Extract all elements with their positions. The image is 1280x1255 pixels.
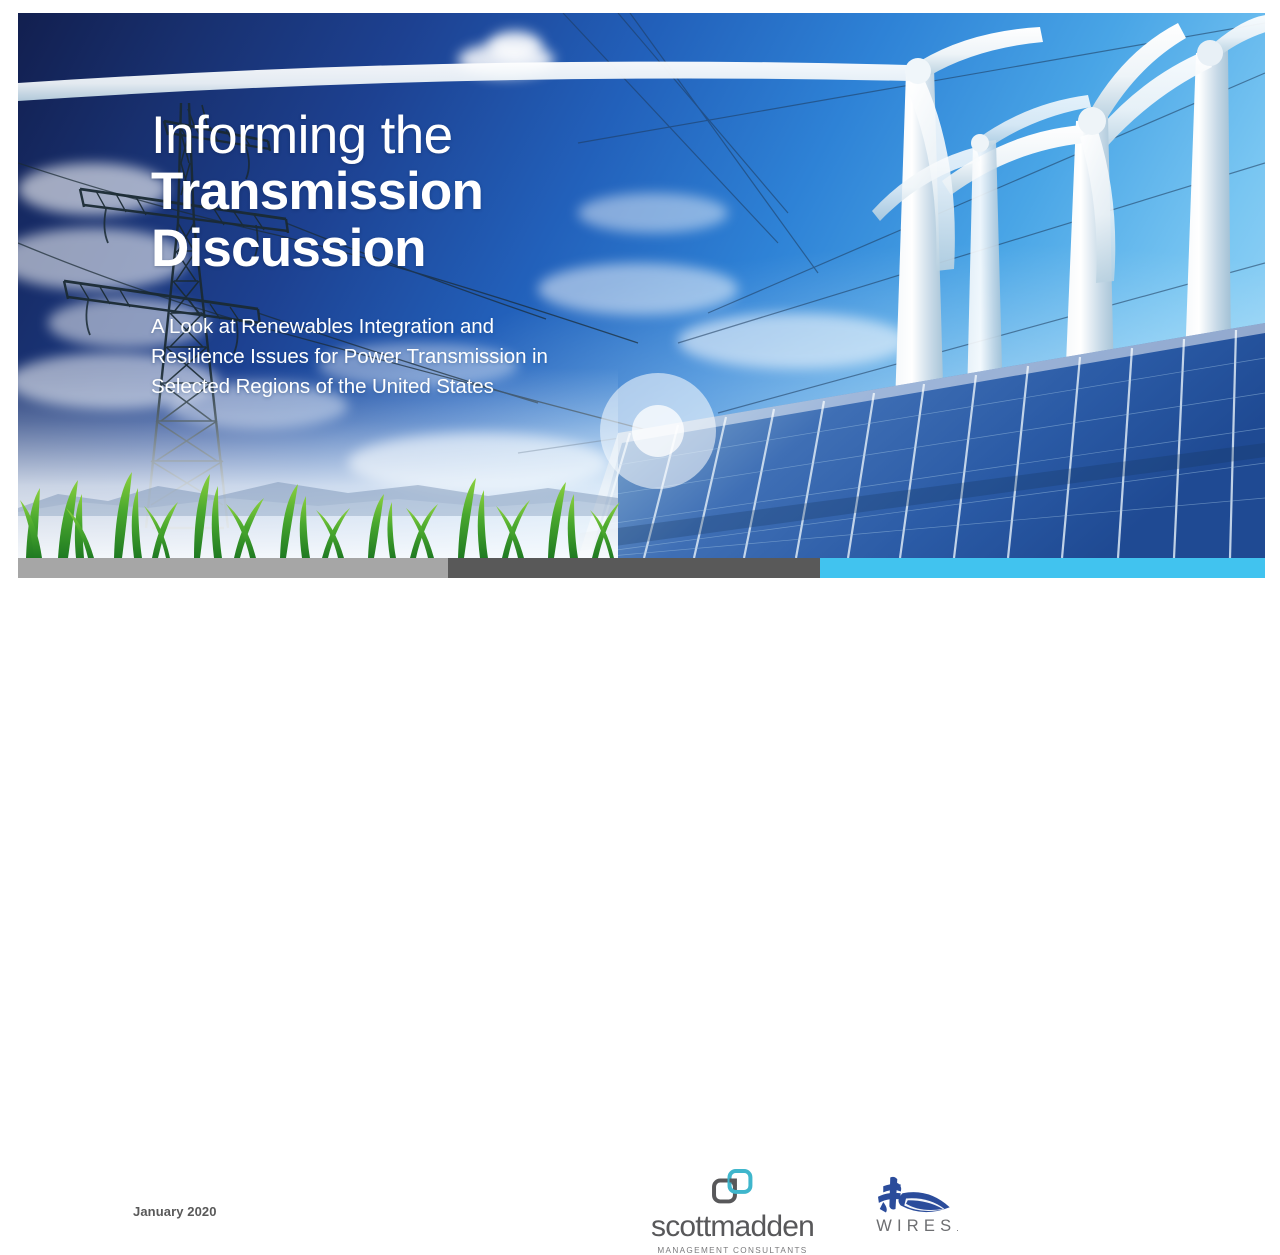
color-bar-segment-cyan	[820, 558, 1265, 578]
date-label: January 2020	[133, 1204, 217, 1219]
title-line-3: Discussion	[151, 220, 551, 277]
wires-registered-mark: .	[956, 1223, 959, 1233]
wires-wordmark-text: WIRES	[876, 1217, 956, 1235]
accent-color-bar	[18, 558, 1265, 578]
hero-image: Informing the Transmission Discussion A …	[18, 13, 1265, 558]
color-bar-segment-light-gray	[18, 558, 448, 578]
title-line-2: Transmission	[151, 163, 551, 220]
color-bar-segment-dark-gray	[448, 558, 820, 578]
scottmadden-logo: scottmadden MANAGEMENT CONSULTANTS	[645, 1168, 820, 1255]
scottmadden-mark-icon	[711, 1168, 755, 1206]
scottmadden-tagline: MANAGEMENT CONSULTANTS	[645, 1246, 820, 1255]
subtitle: A Look at Renewables Integration and Res…	[151, 312, 551, 403]
title-slide: Informing the Transmission Discussion A …	[0, 0, 1280, 720]
scottmadden-wordmark: scottmadden	[645, 1212, 820, 1242]
footer: January 2020 scottmadden MANAGEMENT CONS…	[0, 578, 1280, 720]
title-line-1: Informing the	[151, 108, 551, 163]
grass-foreground	[18, 438, 638, 558]
wires-logo: WIRES.	[855, 1174, 975, 1235]
title-block: Informing the Transmission Discussion A …	[151, 108, 551, 403]
wires-mark-icon	[871, 1174, 959, 1216]
wires-wordmark: WIRES.	[855, 1218, 975, 1235]
